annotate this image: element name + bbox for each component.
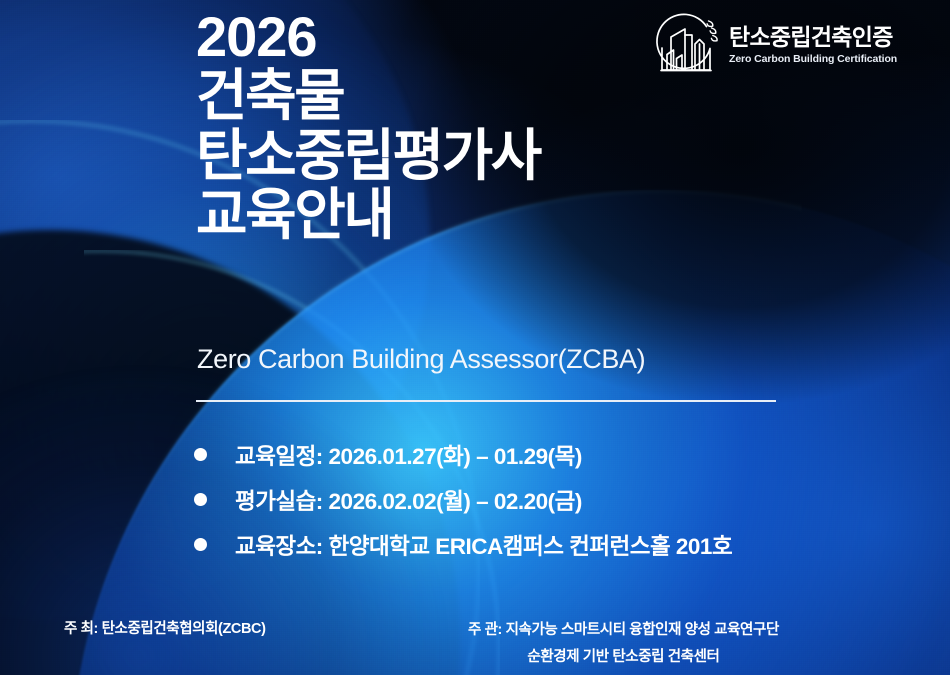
footer-organizer-line-2: 순환경제 기반 탄소중립 건축센터	[468, 644, 779, 671]
bullet-dot-icon	[194, 448, 207, 461]
certification-logo-text: 탄소중립건축인증 Zero Carbon Building Certificat…	[729, 26, 897, 65]
footer-organizer: 주 관: 지속가능 스마트시티 융합인재 양성 교육연구단 순환경제 기반 탄소…	[468, 617, 779, 671]
headline-line-2: 탄소중립평가사	[196, 126, 540, 186]
headline-subtitle: Zero Carbon Building Assessor(ZCBA)	[197, 344, 645, 375]
section-divider	[196, 400, 776, 402]
detail-schedule-text: 교육일정: 2026.01.27(화) – 01.29(목)	[235, 439, 582, 471]
detail-practicum-text: 평가실습: 2026.02.02(월) – 02.20(금)	[235, 484, 582, 516]
headline-year: 2026	[196, 8, 540, 66]
headline-line-3: 교육안내	[196, 185, 540, 245]
zero-carbon-building-emblem-icon	[652, 12, 720, 78]
footer-host: 주 최: 탄소중립건축협의회(ZCBC)	[64, 617, 266, 638]
headline-line-1: 건축물	[196, 66, 540, 126]
detail-venue-text: 교육장소: 한양대학교 ERICA캠퍼스 컨퍼런스홀 201호	[235, 529, 732, 561]
headline-block: 2026 건축물 탄소중립평가사 교육안내	[196, 8, 540, 245]
certification-logo-title-en: Zero Carbon Building Certification	[729, 54, 897, 65]
details-list: 교육일정: 2026.01.27(화) – 01.29(목) 평가실습: 202…	[194, 432, 732, 567]
certification-logo: 탄소중립건축인증 Zero Carbon Building Certificat…	[652, 12, 897, 78]
footer-organizer-line-1: 주 관: 지속가능 스마트시티 융합인재 양성 교육연구단	[468, 622, 779, 638]
poster-content: 탄소중립건축인증 Zero Carbon Building Certificat…	[0, 0, 950, 675]
bullet-dot-icon	[194, 493, 207, 506]
list-item: 교육일정: 2026.01.27(화) – 01.29(목)	[194, 432, 732, 477]
poster-root: 탄소중립건축인증 Zero Carbon Building Certificat…	[0, 0, 950, 675]
certification-logo-title-ko: 탄소중립건축인증	[729, 26, 897, 49]
list-item: 교육장소: 한양대학교 ERICA캠퍼스 컨퍼런스홀 201호	[194, 522, 732, 567]
bullet-dot-icon	[194, 538, 207, 551]
list-item: 평가실습: 2026.02.02(월) – 02.20(금)	[194, 477, 732, 522]
